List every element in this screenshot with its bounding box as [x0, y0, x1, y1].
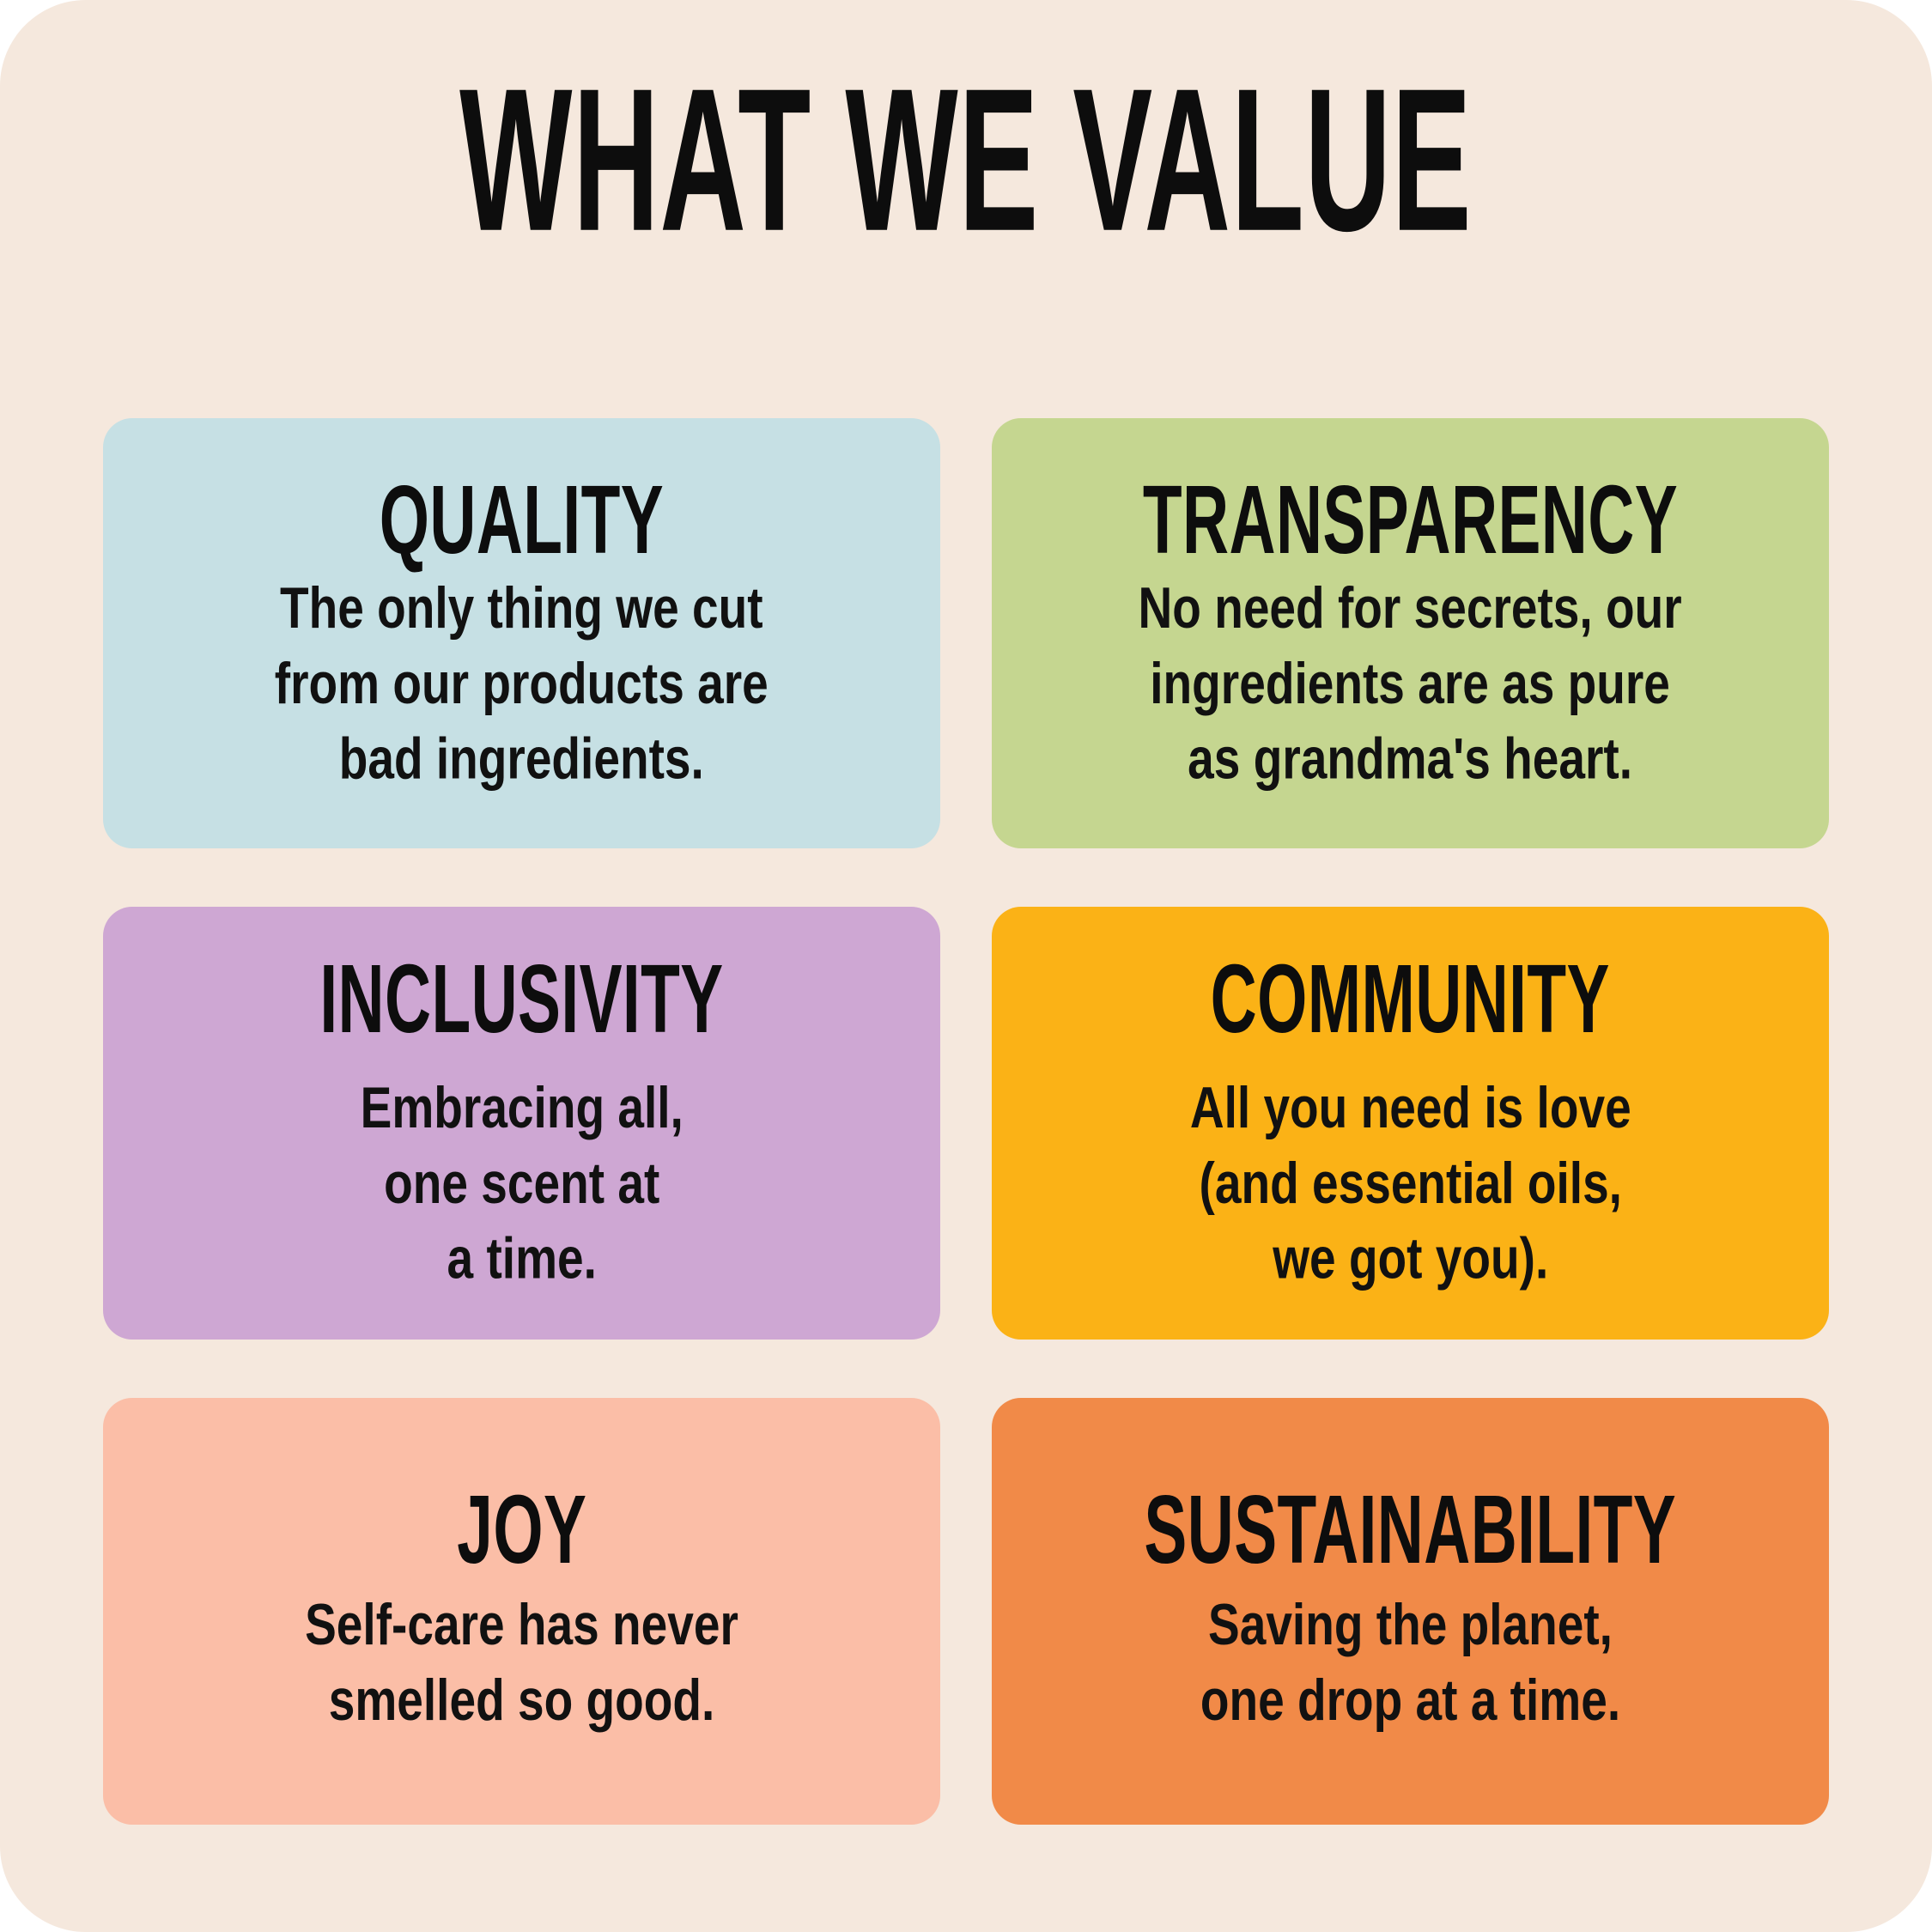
value-card-title: COMMUNITY — [1211, 951, 1610, 1048]
value-card-description: Saving the planet, one drop at a time. — [1200, 1587, 1620, 1738]
value-card-title: QUALITY — [380, 471, 664, 568]
values-poster: WHAT WE VALUE QUALITY The only thing we … — [0, 0, 1932, 1932]
page-title-container: WHAT WE VALUE — [0, 82, 1932, 237]
value-card-quality[interactable]: QUALITY The only thing we cut from our p… — [103, 418, 940, 848]
value-card-title: SUSTAINABILITY — [1145, 1482, 1677, 1579]
values-grid: QUALITY The only thing we cut from our p… — [103, 418, 1829, 1825]
value-card-title: INCLUSIVITY — [319, 951, 723, 1048]
value-card-description: Self-care has never smelled so good. — [305, 1587, 738, 1738]
page-title: WHAT WE VALUE — [459, 66, 1472, 253]
value-card-description: No need for secrets, our ingredients are… — [1139, 570, 1682, 798]
value-card-description: Embracing all, one scent at a time. — [360, 1070, 683, 1297]
value-card-joy[interactable]: JOY Self-care has never smelled so good. — [103, 1398, 940, 1825]
value-card-description: All you need is love (and essential oils… — [1190, 1070, 1631, 1297]
value-card-sustainability[interactable]: SUSTAINABILITY Saving the planet, one dr… — [992, 1398, 1829, 1825]
value-card-transparency[interactable]: TRANSPARENCY No need for secrets, our in… — [992, 418, 1829, 848]
value-card-title: TRANSPARENCY — [1143, 471, 1678, 568]
value-card-community[interactable]: COMMUNITY All you need is love (and esse… — [992, 907, 1829, 1340]
value-card-inclusivity[interactable]: INCLUSIVITY Embracing all, one scent at … — [103, 907, 940, 1340]
value-card-description: The only thing we cut from our products … — [275, 570, 769, 798]
value-card-title: JOY — [457, 1482, 586, 1579]
